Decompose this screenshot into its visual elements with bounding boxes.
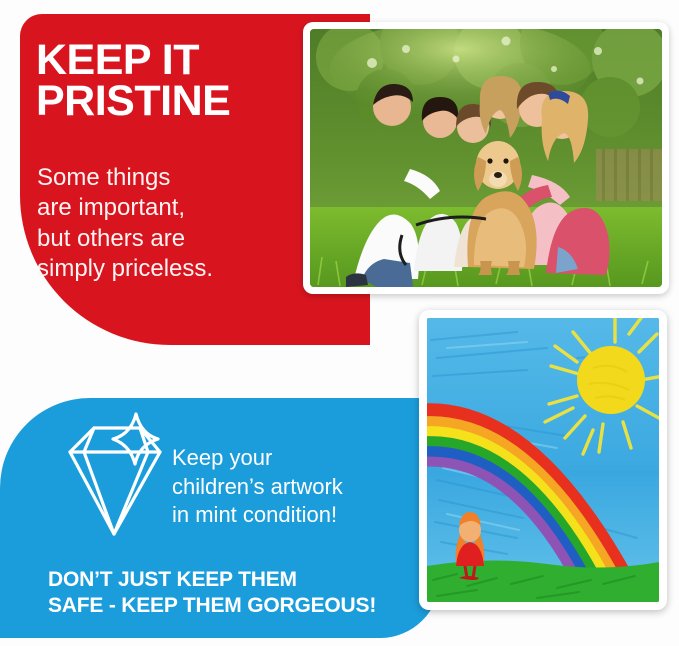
family-photo-illustration [310,29,662,287]
blue-body-line-1: Keep your [172,444,422,473]
subtext-line-3: but others are [37,224,307,254]
family-photo-frame [303,22,669,294]
child-artwork-illustration [427,318,659,602]
child-artwork-frame [419,310,667,610]
subtext-line-2: are important, [37,193,307,223]
tagline-line-1: DON’T JUST KEEP THEM [48,567,428,593]
red-panel-subtext: Some things are important, but others ar… [37,163,307,285]
blue-body-line-3: in mint condition! [172,501,422,530]
diamond-sparkle-icon [48,412,168,552]
subtext-line-1: Some things [37,163,307,193]
blue-panel-body: Keep your children’s artwork in mint con… [172,444,422,530]
family-photo [310,29,662,287]
blue-panel-tagline: DON’T JUST KEEP THEM SAFE - KEEP THEM GO… [48,567,428,620]
headline-line-2: PRISTINE [36,81,296,122]
tagline-line-2: SAFE - KEEP THEM GORGEOUS! [48,593,428,619]
child-artwork [427,318,659,602]
red-panel-headline: KEEP IT PRISTINE [36,40,296,122]
promo-graphic: KEEP IT PRISTINE Some things are importa… [0,0,679,646]
blue-body-line-2: children’s artwork [172,473,422,502]
subtext-line-4: simply priceless. [37,254,307,284]
